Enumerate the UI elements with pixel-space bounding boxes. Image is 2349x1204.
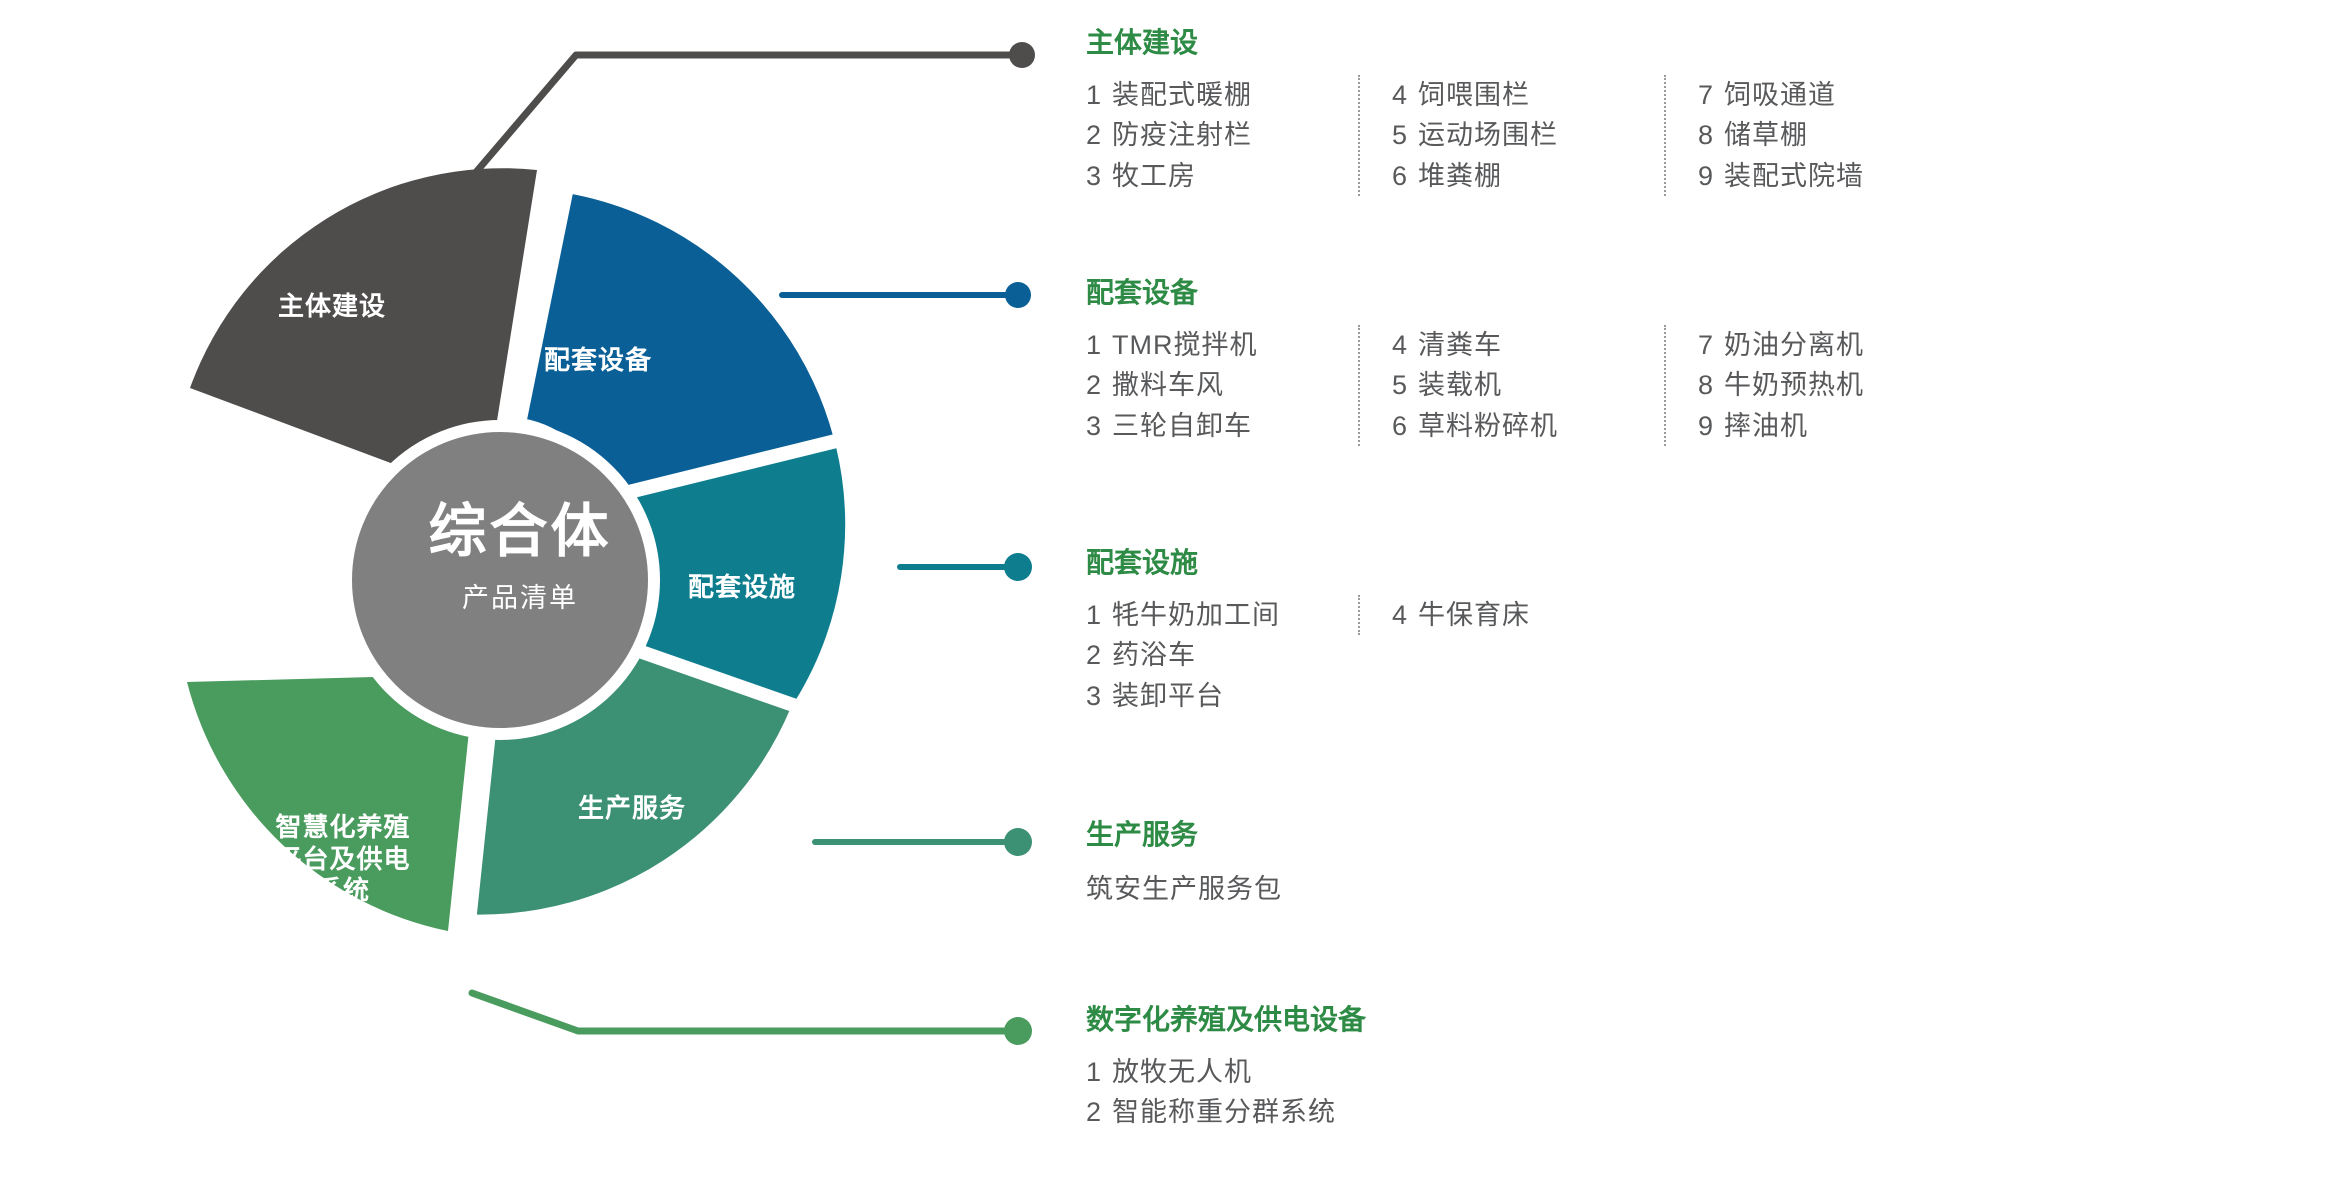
section-columns: 1TMR搅拌机 2撒料车风 3三轮自卸车 4清粪车 5装载机 6草料粉碎机 7奶… — [1086, 325, 1966, 446]
item-text: 药浴车 — [1112, 640, 1196, 670]
item-text: 防疫注射栏 — [1112, 120, 1252, 150]
list-item: 2智能称重分群系统 — [1086, 1092, 1336, 1132]
connector-line-0 — [465, 55, 1020, 185]
item-text: 储草棚 — [1724, 120, 1808, 150]
item-text: 奶油分离机 — [1724, 330, 1864, 360]
item-number: 1 — [1086, 1054, 1112, 1090]
list-item: 4饲喂围栏 — [1392, 75, 1660, 115]
item-text: TMR搅拌机 — [1112, 330, 1257, 360]
item-column: 1放牧无人机 2智能称重分群系统 — [1086, 1052, 1336, 1133]
connector-dot-0 — [1009, 42, 1035, 68]
item-text: 牧工房 — [1112, 161, 1196, 191]
item-number: 2 — [1086, 1094, 1112, 1130]
list-item: 8储草棚 — [1698, 115, 1966, 155]
item-number: 2 — [1086, 117, 1112, 153]
list-item: 2防疫注射栏 — [1086, 115, 1354, 155]
list-item: 6堆粪棚 — [1392, 156, 1660, 196]
item-number: 8 — [1698, 117, 1724, 153]
list-item: 3装卸平台 — [1086, 676, 1354, 716]
list-item: 3三轮自卸车 — [1086, 406, 1354, 446]
item-text: 饲吸通道 — [1724, 80, 1836, 110]
connector-dot-4 — [1004, 1017, 1032, 1045]
item-column: 4清粪车 5装载机 6草料粉碎机 — [1358, 325, 1660, 446]
item-number: 4 — [1392, 77, 1418, 113]
item-text: 装配式院墙 — [1724, 161, 1864, 191]
item-text: 放牧无人机 — [1112, 1057, 1252, 1087]
section-title: 配套设备 — [1086, 278, 1966, 309]
item-number: 5 — [1392, 117, 1418, 153]
item-number: 7 — [1698, 327, 1724, 363]
item-number: 7 — [1698, 77, 1724, 113]
section-peitaosheshi: 配套设施 1牦牛奶加工间 2药浴车 3装卸平台 4牛保育床 — [1086, 548, 1660, 716]
item-number: 9 — [1698, 158, 1724, 194]
item-text: 牛保育床 — [1418, 600, 1530, 630]
section-columns: 1牦牛奶加工间 2药浴车 3装卸平台 4牛保育床 — [1086, 595, 1660, 716]
item-column: 4牛保育床 — [1358, 595, 1660, 635]
item-number: 1 — [1086, 327, 1112, 363]
item-column: 1牦牛奶加工间 2药浴车 3装卸平台 — [1086, 595, 1354, 716]
item-number: 6 — [1392, 408, 1418, 444]
item-number: 1 — [1086, 597, 1112, 633]
list-item: 7奶油分离机 — [1698, 325, 1966, 365]
item-number: 2 — [1086, 637, 1112, 673]
item-number: 2 — [1086, 367, 1112, 403]
item-text: 草料粉碎机 — [1418, 411, 1558, 441]
section-columns: 1装配式暖棚 2防疫注射栏 3牧工房 4饲喂围栏 5运动场围栏 6堆粪棚 7饲吸… — [1086, 75, 1966, 196]
section-zhutijianshe: 主体建设 1装配式暖棚 2防疫注射栏 3牧工房 4饲喂围栏 5运动场围栏 6堆粪… — [1086, 28, 1966, 196]
item-column: 1装配式暖棚 2防疫注射栏 3牧工房 — [1086, 75, 1354, 196]
hub-circle — [346, 426, 654, 734]
infographic-canvas: 主体建设 配套设备 配套设施 生产服务 智慧化养殖 平台及供电 系统 综合体 产… — [0, 0, 2349, 1204]
list-item: 5运动场围栏 — [1392, 115, 1660, 155]
item-text: 装载机 — [1418, 370, 1502, 400]
section-title: 配套设施 — [1086, 548, 1660, 579]
item-text: 三轮自卸车 — [1112, 411, 1252, 441]
list-item: 4牛保育床 — [1392, 595, 1660, 635]
item-number: 4 — [1392, 597, 1418, 633]
item-text: 清粪车 — [1418, 330, 1502, 360]
item-column: 7饲吸通道 8储草棚 9装配式院墙 — [1664, 75, 1966, 196]
item-text: 牛奶预热机 — [1724, 370, 1864, 400]
item-text: 运动场围栏 — [1418, 120, 1558, 150]
list-item: 1TMR搅拌机 — [1086, 325, 1354, 365]
section-peitaoshebei: 配套设备 1TMR搅拌机 2撒料车风 3三轮自卸车 4清粪车 5装载机 6草料粉… — [1086, 278, 1966, 446]
section-shuzihuayangzhi: 数字化养殖及供电设备 1放牧无人机 2智能称重分群系统 — [1086, 1005, 1366, 1133]
item-number: 5 — [1392, 367, 1418, 403]
list-item: 5装载机 — [1392, 365, 1660, 405]
connector-line-4 — [472, 993, 1012, 1031]
list-item: 4清粪车 — [1392, 325, 1660, 365]
section-title: 数字化养殖及供电设备 — [1086, 1005, 1366, 1036]
list-item: 9装配式院墙 — [1698, 156, 1966, 196]
item-text: 撒料车风 — [1112, 370, 1224, 400]
list-item: 1装配式暖棚 — [1086, 75, 1354, 115]
item-number: 6 — [1392, 158, 1418, 194]
item-number: 9 — [1698, 408, 1724, 444]
item-number: 3 — [1086, 678, 1112, 714]
item-number: 8 — [1698, 367, 1724, 403]
list-item: 3牧工房 — [1086, 156, 1354, 196]
item-number: 1 — [1086, 77, 1112, 113]
item-text: 牦牛奶加工间 — [1112, 600, 1280, 630]
item-text: 饲喂围栏 — [1418, 80, 1530, 110]
section-columns: 1放牧无人机 2智能称重分群系统 — [1086, 1052, 1366, 1133]
list-item: 8牛奶预热机 — [1698, 365, 1966, 405]
list-item: 9摔油机 — [1698, 406, 1966, 446]
item-number: 3 — [1086, 408, 1112, 444]
connector-dot-1 — [1005, 282, 1031, 308]
section-shengchanfuwu: 生产服务 筑安生产服务包 — [1086, 820, 1282, 906]
item-column: 7奶油分离机 8牛奶预热机 9摔油机 — [1664, 325, 1966, 446]
connector-dot-3 — [1004, 828, 1032, 856]
list-item: 1牦牛奶加工间 — [1086, 595, 1354, 635]
section-title: 生产服务 — [1086, 820, 1282, 851]
item-text: 装配式暖棚 — [1112, 80, 1252, 110]
item-text: 堆粪棚 — [1418, 161, 1502, 191]
item-column: 1TMR搅拌机 2撒料车风 3三轮自卸车 — [1086, 325, 1354, 446]
list-item: 2药浴车 — [1086, 635, 1354, 675]
section-title: 主体建设 — [1086, 28, 1966, 59]
item-number: 3 — [1086, 158, 1112, 194]
item-column: 4饲喂围栏 5运动场围栏 6堆粪棚 — [1358, 75, 1660, 196]
list-item: 7饲吸通道 — [1698, 75, 1966, 115]
item-number: 4 — [1392, 327, 1418, 363]
list-item: 6草料粉碎机 — [1392, 406, 1660, 446]
donut-wheel: 主体建设 配套设备 配套设施 生产服务 智慧化养殖 平台及供电 系统 综合体 产… — [0, 0, 1100, 1204]
item-text: 摔油机 — [1724, 411, 1808, 441]
list-item: 1放牧无人机 — [1086, 1052, 1336, 1092]
connector-dot-2 — [1004, 553, 1032, 581]
item-text: 装卸平台 — [1112, 681, 1224, 711]
list-item: 2撒料车风 — [1086, 365, 1354, 405]
section-plain-text: 筑安生产服务包 — [1086, 867, 1282, 906]
item-text: 智能称重分群系统 — [1112, 1097, 1336, 1127]
